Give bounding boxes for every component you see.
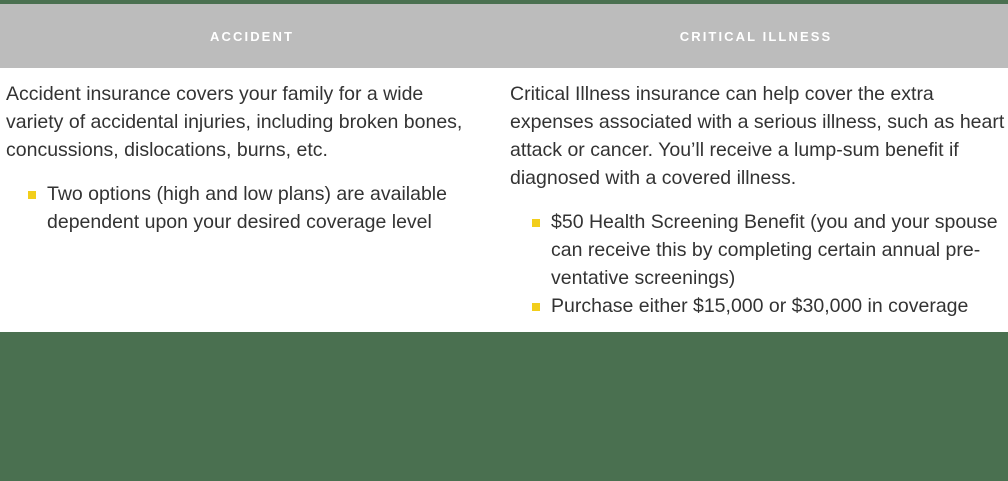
column-header-accident-label: ACCIDENT [210, 30, 294, 43]
bottom-green-panel [0, 332, 1008, 481]
content-column-critical-illness: Critical Illness insurance can help cove… [504, 68, 1008, 332]
list-item-text: Two options (high and low plans) are ava… [47, 183, 447, 233]
benefits-comparison-page: ACCIDENT CRITICAL ILLNESS Accident insur… [0, 0, 1008, 481]
square-bullet-icon [532, 219, 540, 227]
accident-bullet-list: Two options (high and low plans) are ava… [6, 180, 484, 236]
list-item: $50 Health Screening Benefit (you and yo… [532, 208, 1006, 292]
list-item-text: $50 Health Screening Benefit (you and yo… [551, 211, 998, 289]
content-columns: Accident insurance covers your family fo… [0, 68, 1008, 332]
list-item: Purchase either $15,000 or $30,000 in co… [532, 292, 1006, 320]
column-header-critical-illness: CRITICAL ILLNESS [504, 4, 1008, 68]
critical-illness-bullet-list: $50 Health Screening Benefit (you and yo… [510, 208, 1006, 320]
column-header-critical-illness-label: CRITICAL ILLNESS [680, 30, 833, 43]
list-item-text: Purchase either $15,000 or $30,000 in co… [551, 295, 968, 317]
list-item: Two options (high and low plans) are ava… [28, 180, 484, 236]
column-header-accident: ACCIDENT [0, 4, 504, 68]
column-headers-band: ACCIDENT CRITICAL ILLNESS [0, 4, 1008, 68]
content-column-accident: Accident insurance covers your family fo… [0, 68, 504, 332]
accident-intro-paragraph: Accident insurance covers your family fo… [6, 80, 484, 164]
square-bullet-icon [532, 303, 540, 311]
critical-illness-intro-paragraph: Critical Illness insurance can help cove… [510, 80, 1006, 192]
square-bullet-icon [28, 191, 36, 199]
